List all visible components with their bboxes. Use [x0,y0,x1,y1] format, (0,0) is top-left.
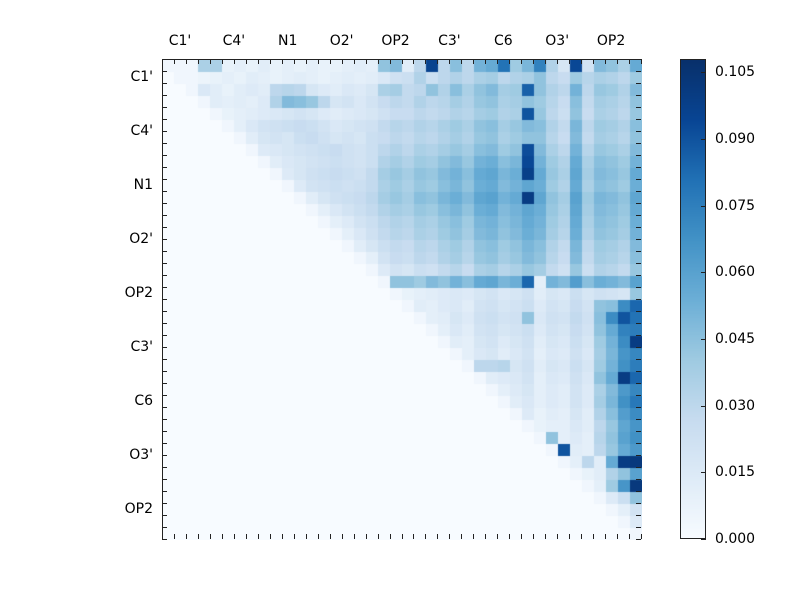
x-tick [258,59,259,64]
x-tick [461,59,462,64]
x-tick-label: OP2 [597,33,625,49]
x-tick-bottom [413,534,414,539]
x-tick-bottom [569,534,570,539]
y-tick [162,263,167,264]
x-tick [557,59,558,64]
y-tick [162,347,167,348]
y-tick-right [636,287,641,288]
y-tick [162,479,167,480]
x-tick-bottom [342,534,343,539]
x-tick [354,59,355,64]
x-tick [413,59,414,64]
y-tick-label: O3' [0,447,153,463]
y-tick-right [636,167,641,168]
x-tick-bottom [461,534,462,539]
y-tick-right [636,335,641,336]
y-tick-right [636,467,641,468]
x-tick [545,59,546,64]
x-tick [473,59,474,64]
y-tick [162,539,167,540]
colorbar-tick [701,272,706,273]
y-tick [162,251,167,252]
y-tick-right [636,479,641,480]
x-tick [330,59,331,64]
y-tick-label: N1 [0,177,153,193]
x-tick [378,59,379,64]
y-tick [162,419,167,420]
y-tick-right [636,455,641,456]
y-tick [162,311,167,312]
colorbar-tick-label: 0.045 [715,331,755,347]
x-tick-bottom [485,534,486,539]
x-tick-bottom [581,534,582,539]
y-tick [162,443,167,444]
y-tick-right [636,143,641,144]
x-tick [294,59,295,64]
x-tick [198,59,199,64]
y-tick [162,227,167,228]
colorbar-tick [701,339,706,340]
y-tick [162,467,167,468]
x-tick-bottom [330,534,331,539]
y-tick [162,95,167,96]
x-tick-bottom [437,534,438,539]
x-tick [210,59,211,64]
x-tick-bottom [545,534,546,539]
y-tick [162,155,167,156]
y-tick-right [636,371,641,372]
y-tick [162,275,167,276]
colorbar-tick [701,539,706,540]
y-tick-right [636,155,641,156]
colorbar-tick [701,72,706,73]
y-tick [162,239,167,240]
x-tick [425,59,426,64]
y-tick-right [636,203,641,204]
y-tick-right [636,215,641,216]
y-tick-label: O2' [0,231,153,247]
x-tick [390,59,391,64]
y-tick [162,215,167,216]
x-tick-bottom [270,534,271,539]
y-tick [162,503,167,504]
colorbar-tick-label: 0.015 [715,464,755,480]
colorbar-tick-label: 0.000 [715,531,755,547]
colorbar-gradient [680,59,706,539]
x-tick-label: C6 [494,33,513,49]
y-tick [162,131,167,132]
x-tick-bottom [390,534,391,539]
y-tick [162,515,167,516]
x-tick [533,59,534,64]
y-tick-label: C3' [0,339,153,355]
x-tick-label: O2' [330,33,354,49]
y-tick-right [636,527,641,528]
x-tick-label: C4' [223,33,246,49]
y-tick-right [636,251,641,252]
y-tick-label: C6 [0,393,153,409]
x-tick [342,59,343,64]
x-tick [593,59,594,64]
y-tick [162,179,167,180]
x-tick [222,59,223,64]
heatmap-plot-area [162,59,641,539]
y-tick-right [636,179,641,180]
y-tick [162,203,167,204]
y-tick-right [636,503,641,504]
x-tick-bottom [641,534,642,539]
colorbar-tick [701,206,706,207]
colorbar-tick-label: 0.105 [715,64,755,80]
y-tick [162,119,167,120]
x-tick-bottom [282,534,283,539]
x-tick [497,59,498,64]
x-tick [318,59,319,64]
y-tick-label: OP2 [0,285,153,301]
x-tick-label: OP2 [381,33,409,49]
x-tick-bottom [186,534,187,539]
y-tick-right [636,407,641,408]
y-tick-right [636,395,641,396]
colorbar-tick [701,139,706,140]
y-tick [162,299,167,300]
y-tick [162,167,167,168]
y-tick [162,323,167,324]
x-tick-bottom [234,534,235,539]
x-tick-bottom [521,534,522,539]
y-tick [162,527,167,528]
x-tick [617,59,618,64]
y-tick-right [636,275,641,276]
x-tick [485,59,486,64]
y-tick [162,59,167,60]
x-tick-bottom [294,534,295,539]
x-tick [581,59,582,64]
x-tick-bottom [449,534,450,539]
x-tick-bottom [198,534,199,539]
colorbar: 0.0000.0150.0300.0450.0600.0750.0900.105 [680,59,706,539]
x-tick-bottom [533,534,534,539]
x-tick-bottom [617,534,618,539]
x-tick-bottom [425,534,426,539]
y-tick-label: C4' [0,123,153,139]
x-tick [605,59,606,64]
y-tick [162,191,167,192]
y-tick [162,107,167,108]
y-tick-right [636,323,641,324]
y-tick-right [636,347,641,348]
y-tick-right [636,59,641,60]
x-tick-bottom [366,534,367,539]
y-tick-right [636,131,641,132]
x-tick-bottom [497,534,498,539]
x-tick-label: C3' [438,33,461,49]
y-tick [162,383,167,384]
heatmap-cells [163,60,642,540]
x-tick [449,59,450,64]
x-tick [270,59,271,64]
x-tick-bottom [629,534,630,539]
colorbar-tick-label: 0.030 [715,398,755,414]
x-tick-bottom [378,534,379,539]
x-tick-bottom [210,534,211,539]
x-tick-bottom [509,534,510,539]
y-tick-right [636,443,641,444]
y-tick-right [636,515,641,516]
x-tick-bottom [258,534,259,539]
y-tick [162,455,167,456]
x-tick [509,59,510,64]
y-tick-right [636,227,641,228]
x-tick [437,59,438,64]
x-tick-bottom [605,534,606,539]
x-tick-bottom [557,534,558,539]
y-tick-right [636,263,641,264]
y-tick-right [636,95,641,96]
x-tick-bottom [246,534,247,539]
y-tick [162,395,167,396]
colorbar-tick [701,406,706,407]
x-tick-bottom [306,534,307,539]
y-tick-right [636,431,641,432]
y-tick [162,371,167,372]
y-tick [162,407,167,408]
y-tick-right [636,383,641,384]
y-tick-right [636,191,641,192]
y-tick [162,71,167,72]
x-tick-label: O3' [545,33,569,49]
y-tick [162,491,167,492]
y-tick-right [636,83,641,84]
y-tick [162,335,167,336]
x-tick-bottom [222,534,223,539]
x-tick [174,59,175,64]
y-tick-right [636,119,641,120]
y-tick [162,287,167,288]
x-tick [366,59,367,64]
x-tick-label: N1 [278,33,297,49]
y-tick-label: C1' [0,69,153,85]
x-tick [402,59,403,64]
colorbar-tick-label: 0.075 [715,198,755,214]
y-tick-right [636,359,641,360]
y-tick-right [636,419,641,420]
x-tick-label: C1' [169,33,192,49]
x-tick-bottom [593,534,594,539]
x-tick [629,59,630,64]
colorbar-tick-label: 0.090 [715,131,755,147]
y-tick-right [636,299,641,300]
colorbar-tick [701,472,706,473]
y-tick-right [636,311,641,312]
x-tick [641,59,642,64]
colorbar-tick-label: 0.060 [715,264,755,280]
y-tick [162,359,167,360]
x-tick [306,59,307,64]
x-tick-bottom [402,534,403,539]
y-tick [162,83,167,84]
x-tick-bottom [174,534,175,539]
x-tick [569,59,570,64]
x-tick-bottom [473,534,474,539]
y-tick-right [636,107,641,108]
y-tick-right [636,539,641,540]
x-tick [186,59,187,64]
x-tick [521,59,522,64]
x-tick [282,59,283,64]
x-tick [234,59,235,64]
y-tick [162,431,167,432]
y-tick-right [636,71,641,72]
y-tick [162,143,167,144]
x-tick [246,59,247,64]
heatmap-figure: C1'C4'N1O2'OP2C3'C6O3'OP2 C1'C4'N1O2'OP2… [0,0,800,600]
y-tick-right [636,239,641,240]
y-tick-right [636,491,641,492]
x-tick-bottom [318,534,319,539]
x-tick-bottom [354,534,355,539]
y-tick-label: OP2 [0,501,153,517]
